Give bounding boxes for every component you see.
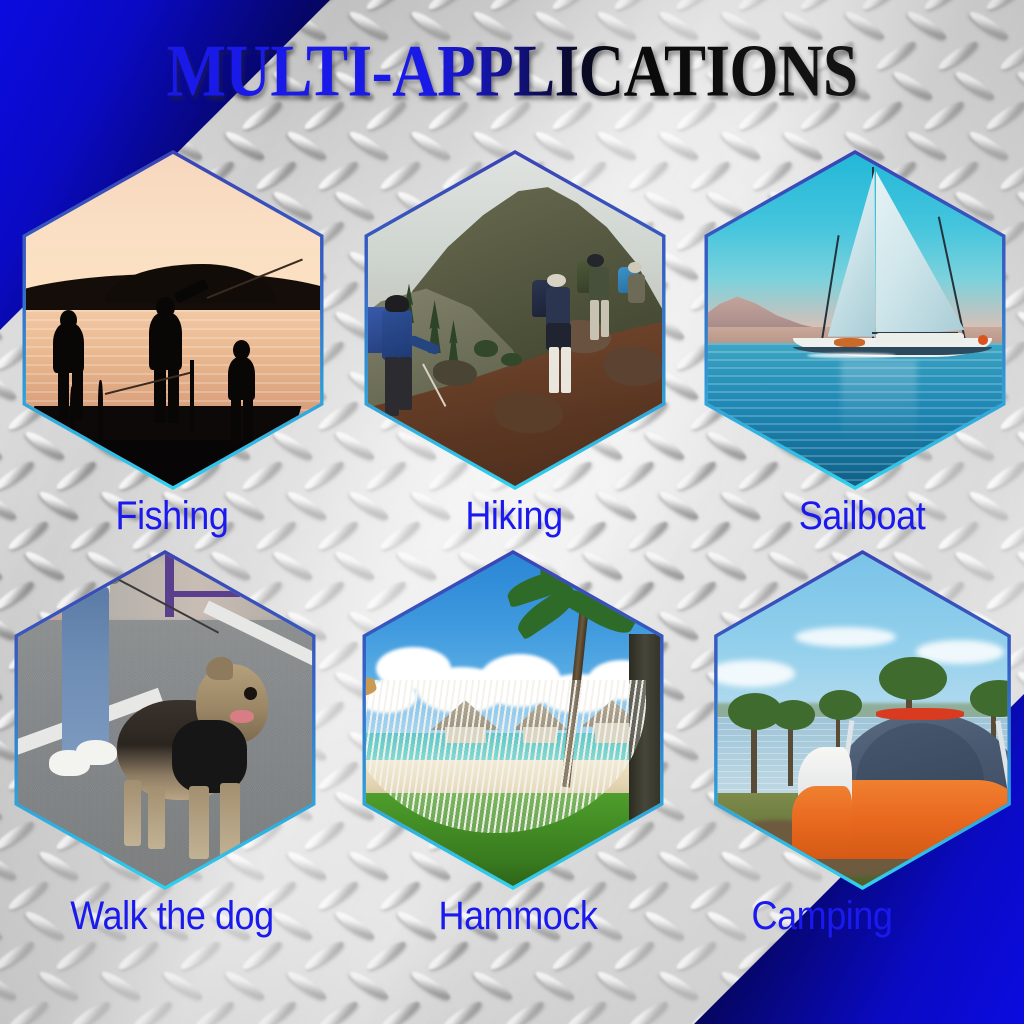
application-card-hiking[interactable] bbox=[340, 150, 690, 490]
hexagon-frame-hiking bbox=[340, 150, 690, 490]
scene-rope-hammock-on-tropical-beach-with-palm-tree bbox=[342, 554, 684, 886]
application-label-camping: Camping bbox=[642, 894, 1002, 939]
hexagon-photo-fishing bbox=[2, 154, 344, 486]
hexagon-frame-walk-the-dog bbox=[0, 550, 340, 890]
application-card-walk-the-dog[interactable] bbox=[0, 550, 340, 890]
scene-hikers-with-backpacks-on-rocky-mountain-trail bbox=[344, 154, 686, 486]
hexagon-photo-sailboat bbox=[684, 154, 1024, 486]
page-title: MULTI-APPLICATIONS bbox=[166, 34, 857, 108]
scene-terrier-on-leash-walking-on-asphalt bbox=[0, 554, 336, 886]
scene-white-sailed-yacht-on-turquoise-sea bbox=[684, 154, 1024, 486]
application-card-fishing[interactable] bbox=[0, 150, 348, 490]
hexagon-frame-sailboat bbox=[680, 150, 1024, 490]
application-label-sailboat: Sailboat bbox=[682, 494, 1024, 539]
hexagon-photo-hiking bbox=[344, 154, 686, 486]
hexagon-frame-fishing bbox=[0, 150, 348, 490]
hexagon-photo-camping bbox=[694, 554, 1024, 886]
application-label-hiking: Hiking bbox=[334, 494, 694, 539]
application-label-walk-the-dog: Walk the dog bbox=[0, 894, 352, 939]
application-card-camping[interactable] bbox=[690, 550, 1024, 890]
application-hexagon-grid: Fishing bbox=[0, 0, 1024, 1024]
poster-title-container: MULTI-APPLICATIONS bbox=[0, 34, 1024, 97]
application-card-hammock[interactable] bbox=[338, 550, 688, 890]
hexagon-photo-hammock bbox=[342, 554, 684, 886]
application-card-sailboat[interactable] bbox=[680, 150, 1024, 490]
scene-three-people-fishing-on-dock-at-sunset bbox=[2, 154, 344, 486]
scene-orange-dome-tent-beside-lake bbox=[694, 554, 1024, 886]
hexagon-frame-hammock bbox=[338, 550, 688, 890]
multi-applications-poster: MULTI-APPLICATIONS Fishing bbox=[0, 0, 1024, 1024]
application-label-fishing: Fishing bbox=[0, 494, 352, 539]
hexagon-photo-walk-the-dog bbox=[0, 554, 336, 886]
hexagon-frame-camping bbox=[690, 550, 1024, 890]
